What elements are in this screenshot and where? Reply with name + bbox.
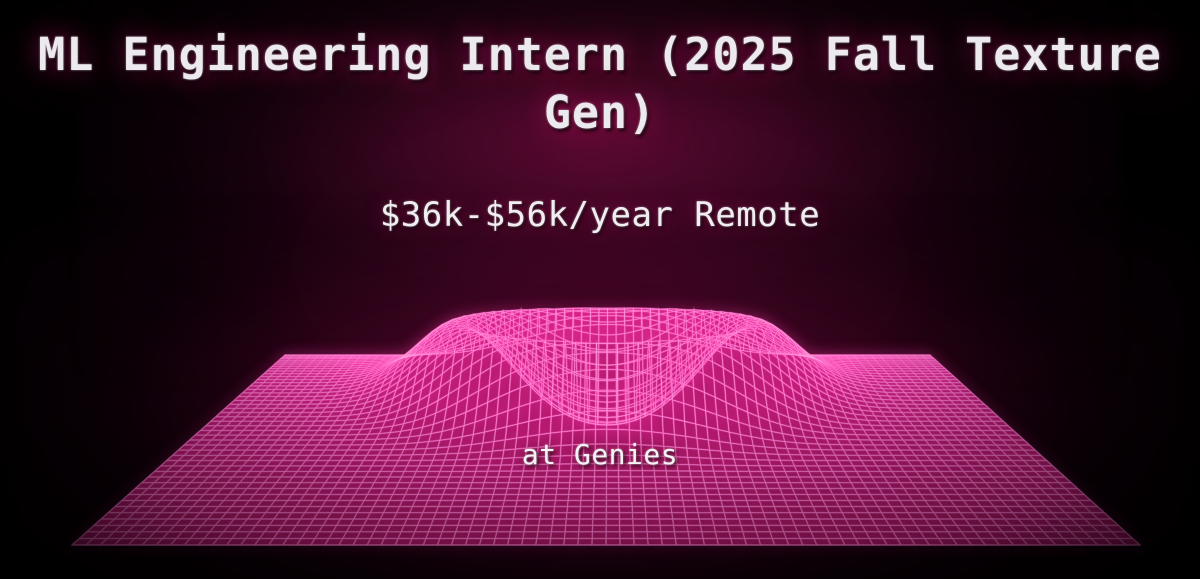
wireframe-mesh-svg [0, 0, 1200, 579]
wireframe-terrain-artwork [0, 0, 1200, 579]
job-card: ML Engineering Intern (2025 Fall Texture… [0, 0, 1200, 579]
